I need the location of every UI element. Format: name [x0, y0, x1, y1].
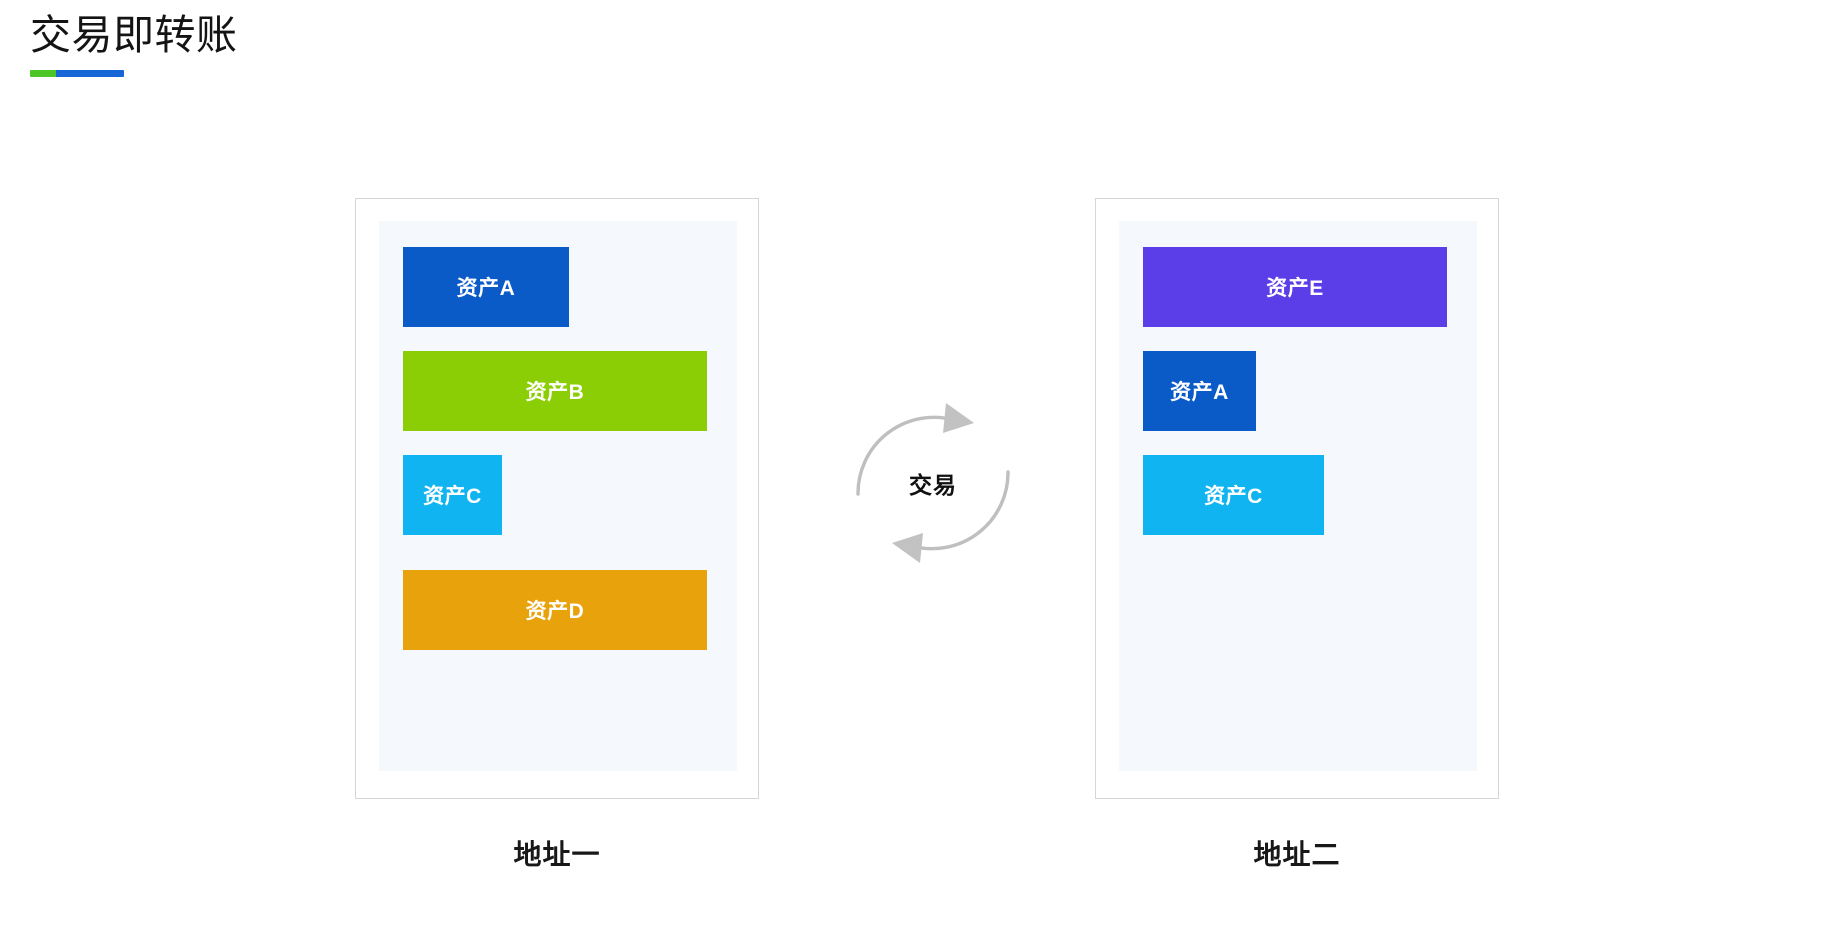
asset-bar-label: 资产A	[457, 272, 516, 302]
asset-bar-left-3[interactable]: 资产D	[403, 570, 707, 650]
asset-bar-label: 资产B	[526, 376, 585, 406]
asset-bar-right-0[interactable]: 资产E	[1143, 247, 1447, 327]
address-label-right: 地址二	[1095, 833, 1499, 873]
asset-bar-label: 资产D	[526, 595, 585, 625]
asset-bar-label: 资产E	[1266, 272, 1324, 302]
asset-bar-label: 资产C	[1204, 480, 1263, 510]
asset-bar-label: 资产A	[1170, 376, 1229, 406]
address-group-left: 资产A 资产B 资产C 资产D 地址一	[355, 198, 765, 838]
asset-bar-left-2[interactable]: 资产C	[403, 455, 502, 535]
asset-bar-label: 资产C	[423, 480, 482, 510]
address-label-left: 地址一	[355, 833, 759, 873]
asset-bar-left-0[interactable]: 资产A	[403, 247, 569, 327]
exchange-label: 交易	[848, 398, 1018, 568]
diagram-stage: 资产A 资产B 资产C 资产D 地址一 交易	[0, 0, 1821, 950]
asset-bar-left-1[interactable]: 资产B	[403, 351, 707, 431]
address-card-right[interactable]: 资产E 资产A 资产C	[1095, 198, 1499, 799]
exchange-cycle[interactable]: 交易	[848, 398, 1018, 568]
address-group-right: 资产E 资产A 资产C 地址二	[1095, 198, 1505, 838]
address-card-left[interactable]: 资产A 资产B 资产C 资产D	[355, 198, 759, 799]
asset-bar-right-2[interactable]: 资产C	[1143, 455, 1324, 535]
asset-bar-right-1[interactable]: 资产A	[1143, 351, 1256, 431]
